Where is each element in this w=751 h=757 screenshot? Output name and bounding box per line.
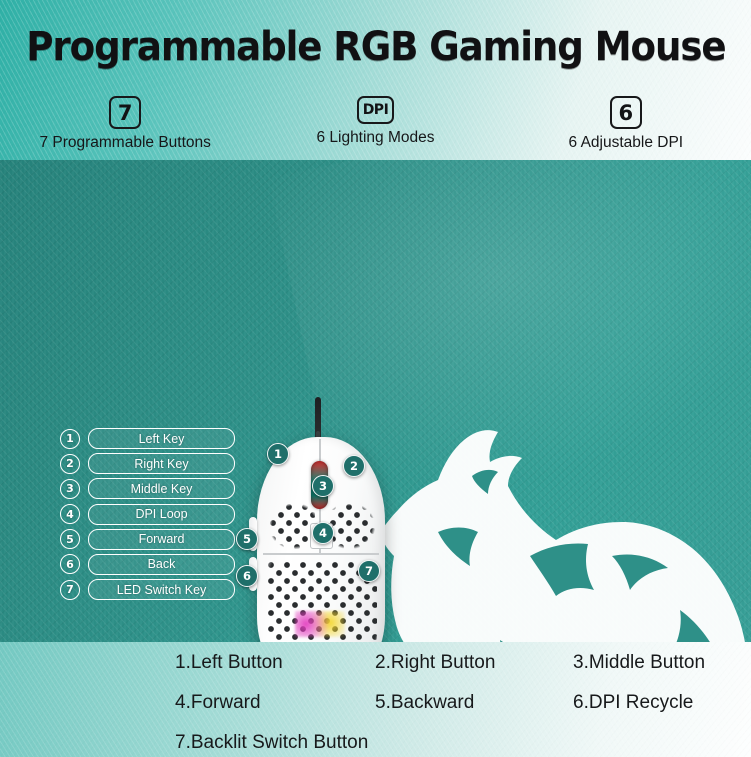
- list-item: 2.Right Button: [375, 652, 573, 674]
- badge-6-icon: 6: [610, 96, 642, 129]
- product-infographic: Programmable RGB Gaming Mouse 7 7 Progra…: [0, 0, 751, 757]
- wolf-silhouette-icon: [380, 310, 751, 642]
- legend-label: LED Switch Key: [88, 579, 235, 600]
- honeycomb-left: [269, 503, 315, 549]
- list-item: 4.Forward: [175, 692, 375, 714]
- button-legend: 1 Left Key 2 Right Key 3 Middle Key 4 DP…: [60, 428, 235, 604]
- legend-row[interactable]: 3 Middle Key: [60, 478, 235, 499]
- legend-row[interactable]: 4 DPI Loop: [60, 504, 235, 525]
- legend-row[interactable]: 6 Back: [60, 554, 235, 575]
- product-photo-stage: 1 Left Key 2 Right Key 3 Middle Key 4 DP…: [0, 160, 751, 642]
- header-banner: Programmable RGB Gaming Mouse 7 7 Progra…: [0, 0, 751, 160]
- legend-label: Left Key: [88, 428, 235, 449]
- callout-2: 2: [343, 455, 365, 477]
- badge-dpi-icon: DPI: [357, 96, 394, 124]
- button-function-list: 1.Left Button 2.Right Button 3.Middle Bu…: [175, 652, 741, 754]
- page-title: Programmable RGB Gaming Mouse: [26, 24, 724, 70]
- legend-number: 1: [60, 429, 80, 449]
- list-item: 1.Left Button: [175, 652, 375, 674]
- list-item: 7.Backlit Switch Button: [175, 732, 375, 754]
- feature-buttons-label: 7 Programmable Buttons: [39, 134, 210, 152]
- legend-row[interactable]: 5 Forward: [60, 529, 235, 550]
- list-item: 3.Middle Button: [573, 652, 741, 674]
- feature-lighting-label: 6 Lighting Modes: [316, 129, 434, 147]
- button-split-horizontal: [263, 553, 379, 555]
- legend-number: 4: [60, 504, 80, 524]
- callout-6: 6: [236, 565, 258, 587]
- mouse-cable: [315, 397, 321, 441]
- feature-dpi-label: 6 Adjustable DPI: [569, 134, 684, 152]
- callout-1: 1: [267, 443, 289, 465]
- legend-row[interactable]: 1 Left Key: [60, 428, 235, 449]
- honeycomb-right: [329, 503, 375, 549]
- list-item: 6.DPI Recycle: [573, 692, 741, 714]
- callout-3: 3: [312, 475, 334, 497]
- legend-number: 7: [60, 580, 80, 600]
- legend-label: Right Key: [88, 453, 235, 474]
- callout-5: 5: [236, 528, 258, 550]
- legend-number: 5: [60, 529, 80, 549]
- legend-number: 3: [60, 479, 80, 499]
- feature-buttons: 7 7 Programmable Buttons: [0, 96, 250, 156]
- legend-row[interactable]: 2 Right Key: [60, 453, 235, 474]
- legend-label: DPI Loop: [88, 504, 235, 525]
- callout-4: 4: [312, 522, 334, 544]
- rgb-underglow: [295, 611, 345, 637]
- button-list-panel: 1.Left Button 2.Right Button 3.Middle Bu…: [0, 642, 751, 757]
- list-item: 5.Backward: [375, 692, 573, 714]
- feature-row: 7 7 Programmable Buttons DPI 6 Lighting …: [0, 96, 751, 156]
- callout-7: 7: [358, 560, 380, 582]
- legend-label: Back: [88, 554, 235, 575]
- feature-dpi: 6 6 Adjustable DPI: [501, 96, 751, 156]
- legend-number: 2: [60, 454, 80, 474]
- badge-7-icon: 7: [109, 96, 141, 129]
- legend-label: Forward: [88, 529, 235, 550]
- feature-lighting: DPI 6 Lighting Modes: [250, 96, 500, 156]
- legend-row[interactable]: 7 LED Switch Key: [60, 579, 235, 600]
- legend-number: 6: [60, 554, 80, 574]
- legend-label: Middle Key: [88, 478, 235, 499]
